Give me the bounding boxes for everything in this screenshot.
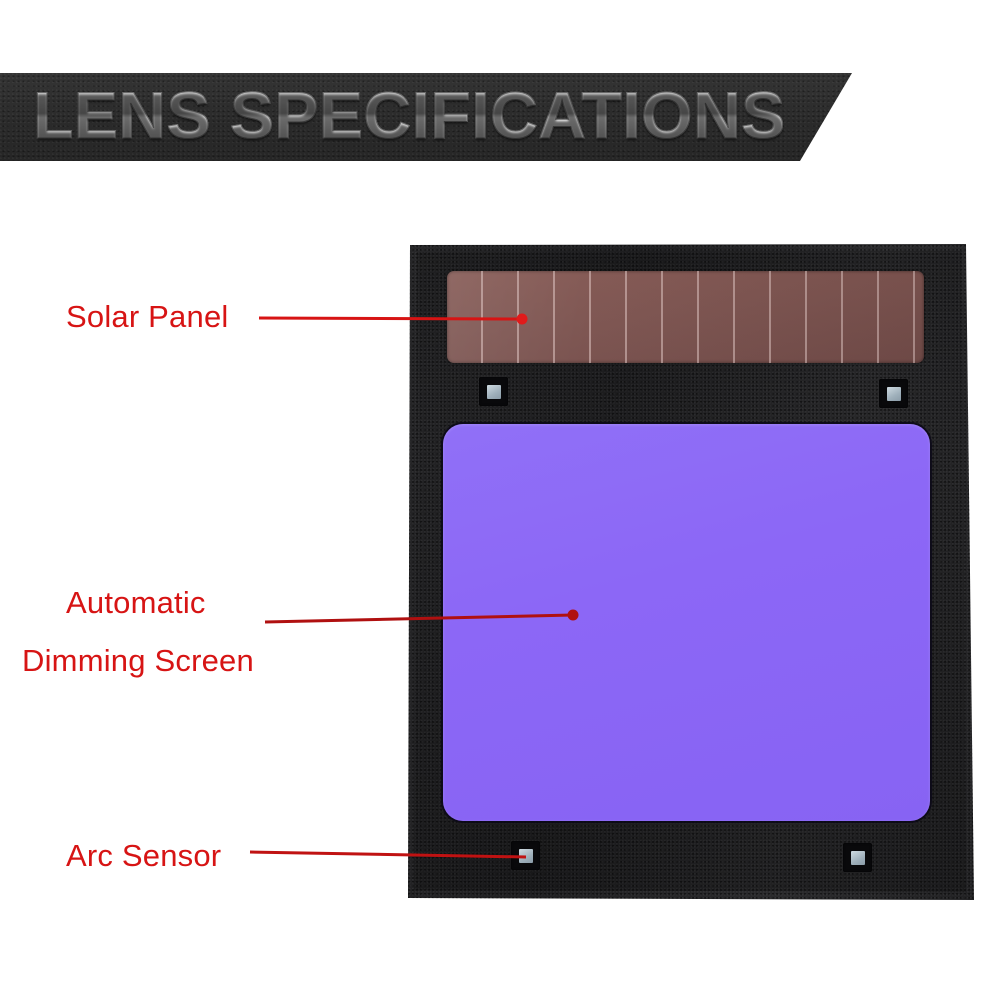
leader-dot-solar-panel [517,314,528,325]
infographic-canvas: LENS SPECIFICATIONS Solar Panel Automati… [0,0,1000,1000]
callout-label-arc-sensor: Arc Sensor [66,838,221,874]
leader-dot-dimming-screen [568,610,579,621]
callout-label-solar-panel: Solar Panel [66,299,228,335]
leader-line-arc-sensor [250,852,526,857]
callout-label-dimming-screen-line2: Dimming Screen [22,643,254,679]
leader-line-dimming-screen [265,615,573,622]
leader-line-solar-panel [259,318,522,319]
callout-label-dimming-screen-line1: Automatic [66,585,206,621]
